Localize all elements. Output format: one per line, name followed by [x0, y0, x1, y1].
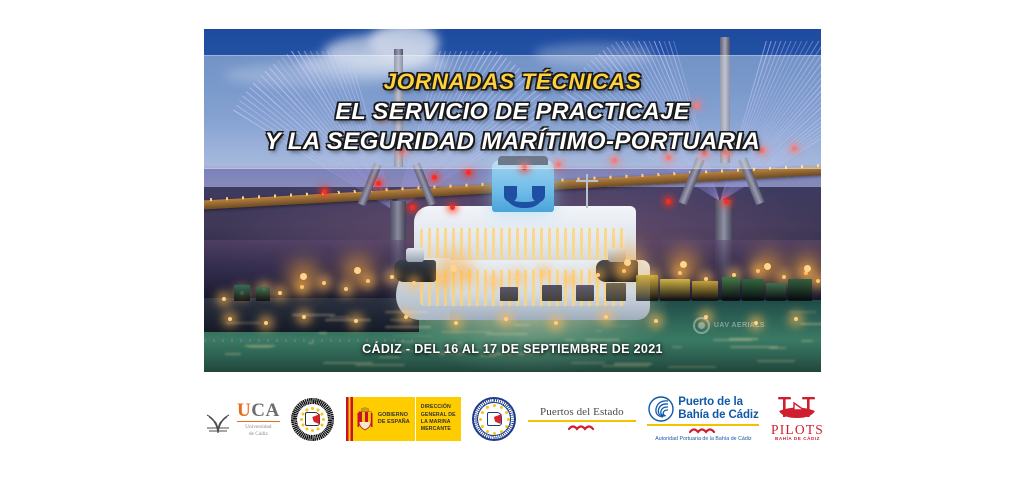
water-streak	[393, 335, 433, 337]
water-streak	[390, 319, 414, 321]
port-light	[450, 265, 457, 272]
water-streak	[800, 323, 821, 325]
port-container	[256, 287, 270, 301]
puertos-del-estado-text: Puertos del Estado	[540, 406, 624, 418]
port-container	[788, 279, 812, 301]
port-light	[322, 281, 326, 285]
water-streak	[614, 363, 652, 365]
logo-gobierno-de-espana[interactable]: GOBIERNO DE ESPAÑA DIRECCIÓN GENERAL DE …	[346, 391, 461, 447]
water-streak	[323, 362, 373, 364]
water-streak	[486, 333, 529, 335]
port-container	[692, 281, 718, 301]
port-container	[722, 277, 740, 301]
title-group: JORNADAS TÉCNICAS EL SERVICIO DE PRACTIC…	[204, 55, 821, 169]
tugboat-wheelhouse	[406, 248, 424, 262]
water-streak	[668, 366, 716, 368]
port-container	[636, 275, 658, 301]
port-container	[766, 283, 786, 301]
port-light	[466, 273, 470, 277]
port-light	[222, 297, 226, 301]
spain-coat-of-arms-icon	[356, 407, 374, 431]
camera-icon	[693, 317, 710, 334]
gobierno-text: GOBIERNO DE ESPAÑA	[378, 412, 410, 427]
uca-acronym: UCA	[237, 401, 280, 420]
water-streak	[602, 365, 649, 367]
logo-pilots-bahia-de-cadiz[interactable]: PILOTS BAHÍA DE CÁDIZ	[771, 391, 824, 447]
port-light	[300, 285, 304, 289]
port-light	[794, 317, 798, 321]
iberia-map-icon	[305, 412, 320, 426]
pilot-boat-icon	[774, 397, 822, 423]
port-light	[654, 319, 658, 323]
red-wave-icon	[689, 427, 717, 435]
title-line-2: EL SERVICIO DE PRACTICAJE	[335, 98, 689, 125]
port-light	[624, 259, 631, 266]
ship-deck-lights	[420, 228, 625, 264]
port-light	[678, 271, 682, 275]
port-light	[516, 275, 520, 279]
funnel-smile-eye	[504, 186, 517, 202]
autoridad-portuaria-text: Autoridad Portuaria de la Bahía de Cádiz	[655, 436, 751, 442]
water-streak	[355, 364, 405, 366]
water-streak	[729, 338, 758, 340]
logo-universidad-de-cadiz[interactable]: UCA Universidad de Cádiz	[204, 391, 280, 447]
puerto-bahia-text: Puerto de la Bahía de Cádiz	[678, 396, 758, 422]
port-light	[432, 175, 437, 180]
port-light	[450, 205, 455, 210]
port-light	[782, 275, 786, 279]
funnel-smile-eye	[532, 186, 545, 202]
title-line-1: JORNADAS TÉCNICAS	[384, 69, 642, 95]
water-streak	[329, 316, 350, 318]
sponsor-logo-strip: UCA Universidad de Cádiz	[204, 388, 824, 450]
uca-divider	[237, 421, 280, 422]
port-light	[804, 265, 811, 272]
water-streak	[514, 324, 530, 326]
ship-mast-arm	[576, 180, 598, 182]
marina-mercante-text: DIRECCIÓN GENERAL DE LA MARINA MERCANTE	[421, 404, 456, 433]
port-container	[500, 287, 518, 301]
tugboat	[596, 260, 638, 282]
port-container	[542, 285, 562, 301]
port-light	[816, 279, 820, 283]
iberia-map-icon	[487, 412, 502, 426]
port-light	[440, 277, 444, 281]
water-streak	[789, 311, 816, 313]
port-light	[264, 321, 268, 325]
water-streak	[385, 326, 431, 328]
colegio-practicos-badge-icon	[472, 397, 516, 441]
port-light	[492, 279, 496, 283]
port-light	[554, 321, 558, 325]
water-streak	[757, 360, 795, 362]
port-light	[366, 279, 370, 283]
port-light	[228, 317, 232, 321]
port-light	[764, 263, 771, 270]
port-light	[756, 269, 760, 273]
port-container	[660, 279, 690, 301]
port-light	[622, 269, 626, 273]
port-light	[354, 267, 361, 274]
port-light	[376, 181, 381, 186]
port-light	[680, 261, 687, 268]
port-light	[344, 287, 348, 291]
pilots-sub-label: BAHÍA DE CÁDIZ	[775, 436, 820, 441]
port-light	[596, 273, 600, 277]
port-light	[568, 277, 572, 281]
uca-sub-line-2: de Cádiz	[237, 431, 280, 438]
puertos-yellow-rule	[528, 420, 636, 422]
water-streak	[226, 322, 259, 324]
port-container	[576, 285, 594, 301]
water-streak	[441, 331, 492, 333]
spain-flag-stripe	[346, 397, 353, 441]
puerto-swirl-icon	[648, 396, 674, 422]
port-light	[542, 271, 546, 275]
port-light	[666, 199, 671, 204]
red-wave-icon	[568, 424, 596, 432]
tugboat-wheelhouse	[608, 248, 626, 262]
port-container	[606, 283, 626, 301]
port-light	[410, 205, 415, 210]
port-container	[742, 279, 764, 301]
logo-puertos-del-estado[interactable]: Puertos del Estado	[528, 391, 636, 447]
title-line-3: Y LA SEGURIDAD MARÍTIMO-PORTUARIA	[265, 128, 760, 156]
ship-cabin-lights	[420, 270, 625, 306]
water-streak	[379, 356, 400, 358]
logo-puerto-bahia-de-cadiz[interactable]: Puerto de la Bahía de Cádiz Autoridad Po…	[647, 391, 759, 447]
logo-corporacion-practicos[interactable]	[291, 391, 334, 447]
port-light	[390, 275, 394, 279]
port-light	[412, 281, 416, 285]
corporacion-practicos-badge-icon	[291, 398, 334, 441]
port-light	[724, 199, 729, 204]
pilots-wordmark: PILOTS	[771, 423, 824, 437]
port-light	[454, 321, 458, 325]
poster-canvas: JORNADAS TÉCNICAS EL SERVICIO DE PRACTIC…	[0, 0, 1024, 478]
port-light	[604, 315, 608, 319]
photo-watermark: UAV AERIALS	[693, 317, 765, 334]
port-light	[466, 170, 471, 175]
event-date-location: CÁDIZ - DEL 16 AL 17 DE SEPTIEMBRE DE 20…	[204, 342, 821, 356]
port-light	[322, 189, 327, 194]
water-streak	[319, 332, 327, 334]
port-container	[234, 285, 250, 301]
uca-seal-icon	[204, 404, 232, 434]
port-light	[278, 291, 282, 295]
water-streak	[565, 339, 575, 341]
water-streak	[571, 362, 605, 364]
port-light	[300, 273, 307, 280]
puerto-yellow-rule	[647, 424, 759, 426]
tugboat	[394, 260, 436, 282]
logo-colegio-nacional-practicos[interactable]	[472, 391, 516, 447]
event-photo: JORNADAS TÉCNICAS EL SERVICIO DE PRACTIC…	[204, 29, 821, 372]
watermark-label: UAV AERIALS	[714, 322, 765, 329]
uca-sub-line-1: Universidad	[237, 424, 280, 431]
